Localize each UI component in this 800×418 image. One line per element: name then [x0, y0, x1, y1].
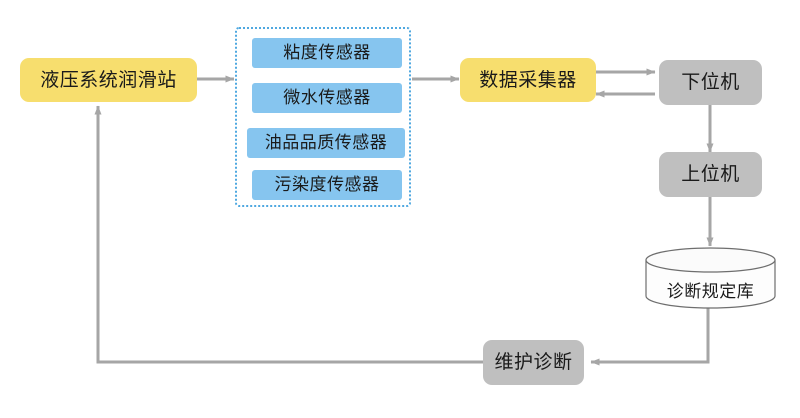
node-sensor-viscosity-label: 粘度传感器	[283, 44, 371, 63]
node-sensor-oil-quality-label: 油品品质传感器	[265, 134, 388, 153]
node-sensor-oil-quality[interactable]: 油品品质传感器	[247, 128, 405, 158]
node-diagnostic-database[interactable]: 诊断规定库	[645, 247, 776, 309]
node-lower-computer[interactable]: 下位机	[659, 60, 762, 105]
node-maintenance-diagnosis[interactable]: 维护诊断	[483, 340, 584, 385]
node-lower-computer-label: 下位机	[681, 72, 740, 93]
node-data-collector-label: 数据采集器	[479, 70, 577, 91]
node-maintenance-diagnosis-label: 维护诊断	[494, 352, 572, 373]
node-sensor-contamination[interactable]: 污染度传感器	[252, 170, 402, 200]
node-diagnostic-database-label: 诊断规定库	[645, 277, 776, 302]
node-sensor-moisture[interactable]: 微水传感器	[252, 83, 402, 113]
node-sensor-contamination-label: 污染度传感器	[275, 176, 380, 195]
diagram-canvas: 液压系统润滑站 粘度传感器 微水传感器 油品品质传感器 污染度传感器 数据采集器…	[0, 0, 800, 418]
node-upper-computer[interactable]: 上位机	[659, 152, 762, 197]
node-sensor-viscosity[interactable]: 粘度传感器	[252, 38, 402, 68]
node-lubrication-station[interactable]: 液压系统润滑站	[20, 58, 197, 102]
node-data-collector[interactable]: 数据采集器	[460, 58, 596, 102]
edge-database-to-maintenance	[591, 305, 708, 362]
node-sensor-moisture-label: 微水传感器	[283, 89, 371, 108]
node-upper-computer-label: 上位机	[681, 164, 740, 185]
node-lubrication-station-label: 液压系统润滑站	[40, 70, 177, 91]
